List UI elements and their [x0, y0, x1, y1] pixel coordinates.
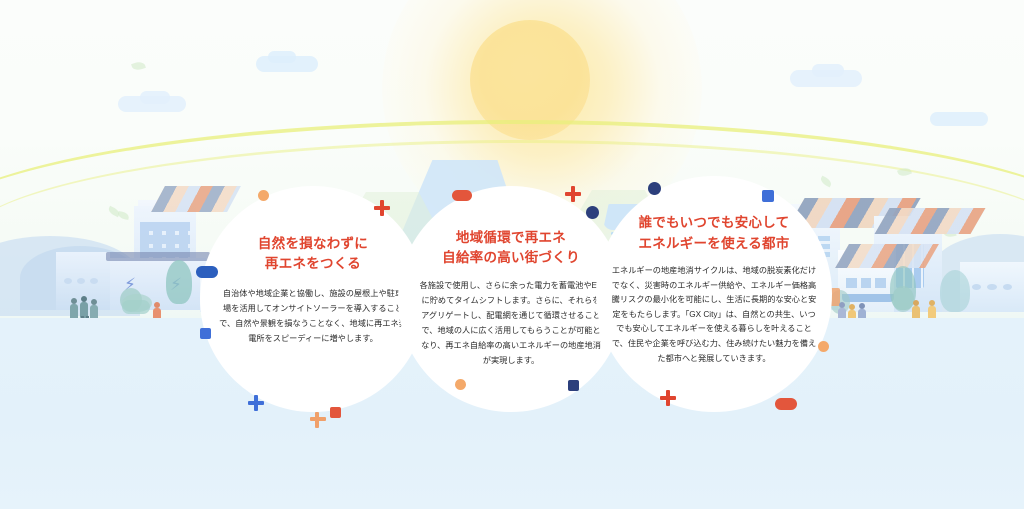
- red-plus-upper-mid: [565, 186, 581, 202]
- feature-card-2-body: 各施設で使用し、さらに余った電力を蓄電池やEVに貯めてタイムシフトします。さらに…: [418, 278, 604, 368]
- feature-card-3-title-line-1: 誰でもいつでも安心して: [638, 212, 789, 233]
- red-pill-bottom-right: [775, 398, 797, 410]
- red-plus-bottom-right: [660, 390, 676, 406]
- orange-dot-right-edge: [818, 341, 829, 352]
- feature-card-3-title-line-2: エネルギーを使える都市: [638, 233, 789, 254]
- feature-card-2-title: 地域循環で再エネ 自給率の高い街づくり: [442, 228, 580, 268]
- feature-card-3[interactable]: 誰でもいつでも安心して エネルギーを使える都市 エネルギーの地産地消サイクルは、…: [596, 176, 832, 412]
- red-pill-upper-mid: [452, 190, 472, 201]
- feature-card-3-title: 誰でもいつでも安心して エネルギーを使える都市: [638, 212, 789, 254]
- red-plus-upper-left: [374, 200, 390, 216]
- blue-plus-bottom-left: [248, 395, 264, 411]
- feature-card-1-body: 自治体や地域企業と協働し、施設の屋根上や駐車場を活用してオンサイトソーラーを導入…: [219, 286, 407, 346]
- feature-card-3-body: エネルギーの地産地消サイクルは、地域の脱炭素化だけでなく、災害時のエネルギー供給…: [611, 264, 817, 366]
- feature-card-1[interactable]: 自然を損なわずに 再エネをつくる 自治体や地域企業と協働し、施設の屋根上や駐車場…: [200, 186, 426, 412]
- blue-square-upper-right: [762, 190, 774, 202]
- orange-dot-bottom-mid: [455, 379, 466, 390]
- navy-dot-cloud-right: [648, 182, 661, 195]
- navy-square-bottom-mid: [568, 380, 579, 391]
- orange-plus-bottom: [310, 412, 324, 426]
- navy-dot-cloud-left: [586, 206, 599, 219]
- orange-dot-top-left: [258, 190, 269, 201]
- feature-card-1-title-line-2: 再エネをつくる: [258, 254, 368, 274]
- navy-pill-left-edge: [196, 266, 218, 278]
- feature-card-group: 自然を損なわずに 再エネをつくる 自治体や地域企業と協働し、施設の屋根上や駐車場…: [0, 0, 1024, 509]
- hero-illustration-stage: ⚡ ⚡: [0, 0, 1024, 509]
- feature-card-1-title: 自然を損なわずに 再エネをつくる: [258, 234, 368, 274]
- blue-square-left-low: [200, 328, 211, 339]
- feature-card-2[interactable]: 地域循環で再エネ 自給率の高い街づくり 各施設で使用し、さらに余った電力を蓄電池…: [398, 186, 624, 412]
- feature-card-2-title-line-1: 地域循環で再エネ: [442, 228, 580, 248]
- feature-card-1-title-line-1: 自然を損なわずに: [258, 234, 368, 254]
- red-square-bottom-left: [330, 407, 341, 418]
- feature-card-2-title-line-2: 自給率の高い街づくり: [442, 248, 580, 268]
